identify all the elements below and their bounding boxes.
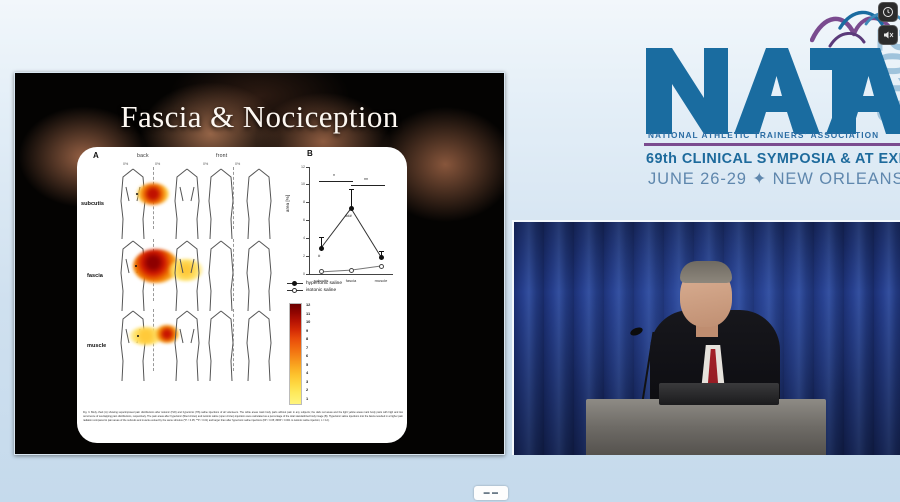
date-line: JUNE 26-29 ✦ NEW ORLEANS xyxy=(648,169,900,189)
pain-blob xyxy=(137,183,169,205)
injection-dot xyxy=(137,335,139,337)
injection-dot xyxy=(136,193,138,195)
speaker-video[interactable] xyxy=(512,220,900,455)
colorbar-tick: 7 xyxy=(306,345,308,350)
row-label-fascia: fascia xyxy=(87,273,103,279)
speaker-hair xyxy=(680,261,732,283)
y-axis-label: area [%] xyxy=(285,195,290,212)
significance-star: * xyxy=(333,174,335,180)
midline xyxy=(233,309,234,371)
mute-speaker-icon[interactable] xyxy=(878,25,898,45)
body-figure xyxy=(201,239,241,313)
slide-title: Fascia & Nociception xyxy=(15,99,504,135)
colorbar-tick: 10 xyxy=(306,319,310,324)
legend-label: isotonic saline xyxy=(306,288,336,293)
row-label-muscle: muscle xyxy=(87,343,106,349)
colorbar-tick: 11 xyxy=(306,311,310,316)
figure-card: A back front 0% 0% 0% 0% subcutis xyxy=(77,147,407,443)
window-controls xyxy=(876,2,898,45)
slide-panel[interactable]: Fascia & Nociception A back front 0% 0% … xyxy=(14,72,505,455)
panel-a-letter: A xyxy=(93,151,99,160)
y-tick-label: 12 xyxy=(295,165,305,169)
error-cap xyxy=(379,251,384,252)
pct-label: 0% xyxy=(203,162,208,166)
colorbar-tick: 6 xyxy=(306,353,308,358)
y-tick-label: 4 xyxy=(295,236,305,240)
body-figure xyxy=(239,239,279,313)
nata-wordmark xyxy=(642,42,900,138)
body-figure xyxy=(201,167,241,241)
view-label-front: front xyxy=(216,153,227,159)
significance-hash: # xyxy=(318,253,320,258)
pct-label: 0% xyxy=(155,162,160,166)
data-point-hypertonic xyxy=(319,246,324,251)
view-label-back: back xyxy=(137,153,149,159)
legend-label: hypertonic saline xyxy=(306,281,342,286)
y-tick-label: 0 xyxy=(295,272,305,276)
significance-bar xyxy=(351,185,385,186)
row-label-subcutis: subcutis xyxy=(81,201,104,207)
open-circle-icon xyxy=(287,288,303,293)
colorbar-tick: 2 xyxy=(306,387,308,392)
data-point-hypertonic xyxy=(379,255,384,260)
significance-star: ** xyxy=(364,178,368,184)
significance-bar xyxy=(319,181,353,182)
y-tick-label: 2 xyxy=(295,254,305,258)
y-tick-label: 8 xyxy=(295,200,305,204)
panel-b-letter: B xyxy=(307,149,313,158)
podium xyxy=(586,399,826,455)
colorbar-tick: 9 xyxy=(306,328,308,333)
data-point-isotonic xyxy=(319,269,324,274)
pct-label: 0% xyxy=(235,162,240,166)
body-figure xyxy=(113,309,153,383)
chart-legend: hypertonic saline isotonic saline xyxy=(287,281,342,295)
significance-hash: ### xyxy=(345,213,352,218)
body-figure xyxy=(239,309,279,383)
colorbar-legend: 12 11 10 9 8 7 6 5 4 3 2 1 xyxy=(289,303,333,407)
filled-circle-icon xyxy=(287,281,303,286)
colorbar-tick: 4 xyxy=(306,370,308,375)
body-figure xyxy=(239,167,279,241)
midline xyxy=(233,239,234,301)
logo-divider xyxy=(644,143,900,146)
injection-dot xyxy=(135,265,137,267)
error-cap xyxy=(349,189,354,190)
y-tick-label: 6 xyxy=(295,218,305,222)
colorbar-tick: 5 xyxy=(306,362,308,367)
clock-icon[interactable] xyxy=(878,2,898,22)
data-point-isotonic xyxy=(379,264,384,269)
nata-logo: 2018 NATIONAL ATHLETIC TRAINERS' ASSOCIA… xyxy=(624,6,900,196)
colorbar-tick: 3 xyxy=(306,379,308,384)
event-line: 69th CLINICAL SYMPOSIA & AT EXPO xyxy=(646,151,900,167)
legend-item-hypertonic: hypertonic saline xyxy=(287,281,342,286)
pct-label: 0% xyxy=(123,162,128,166)
x-tick-label: muscle xyxy=(364,278,398,283)
error-cap xyxy=(319,237,324,238)
midline xyxy=(233,167,234,229)
plot-area: 0 2 4 6 8 10 12 xyxy=(309,167,393,275)
association-line: NATIONAL ATHLETIC TRAINERS' ASSOCIATION xyxy=(648,130,898,140)
data-point-isotonic xyxy=(349,268,354,273)
colorbar-tick: 1 xyxy=(306,396,308,401)
laptop xyxy=(659,383,779,405)
player-control-badge[interactable]: ▬ ▬ xyxy=(474,486,508,500)
colorbar-gradient xyxy=(289,303,302,405)
body-figure xyxy=(201,309,241,383)
data-point-hypertonic xyxy=(349,206,354,211)
colorbar-tick: 12 xyxy=(306,302,310,307)
y-tick-label: 10 xyxy=(295,182,305,186)
panel-a: A back front 0% 0% 0% 0% subcutis xyxy=(77,147,282,409)
legend-item-isotonic: isotonic saline xyxy=(287,288,342,293)
figure-caption: Fig. 3. Body chart (A) showing superimpo… xyxy=(83,411,403,423)
colorbar-tick: 8 xyxy=(306,336,308,341)
